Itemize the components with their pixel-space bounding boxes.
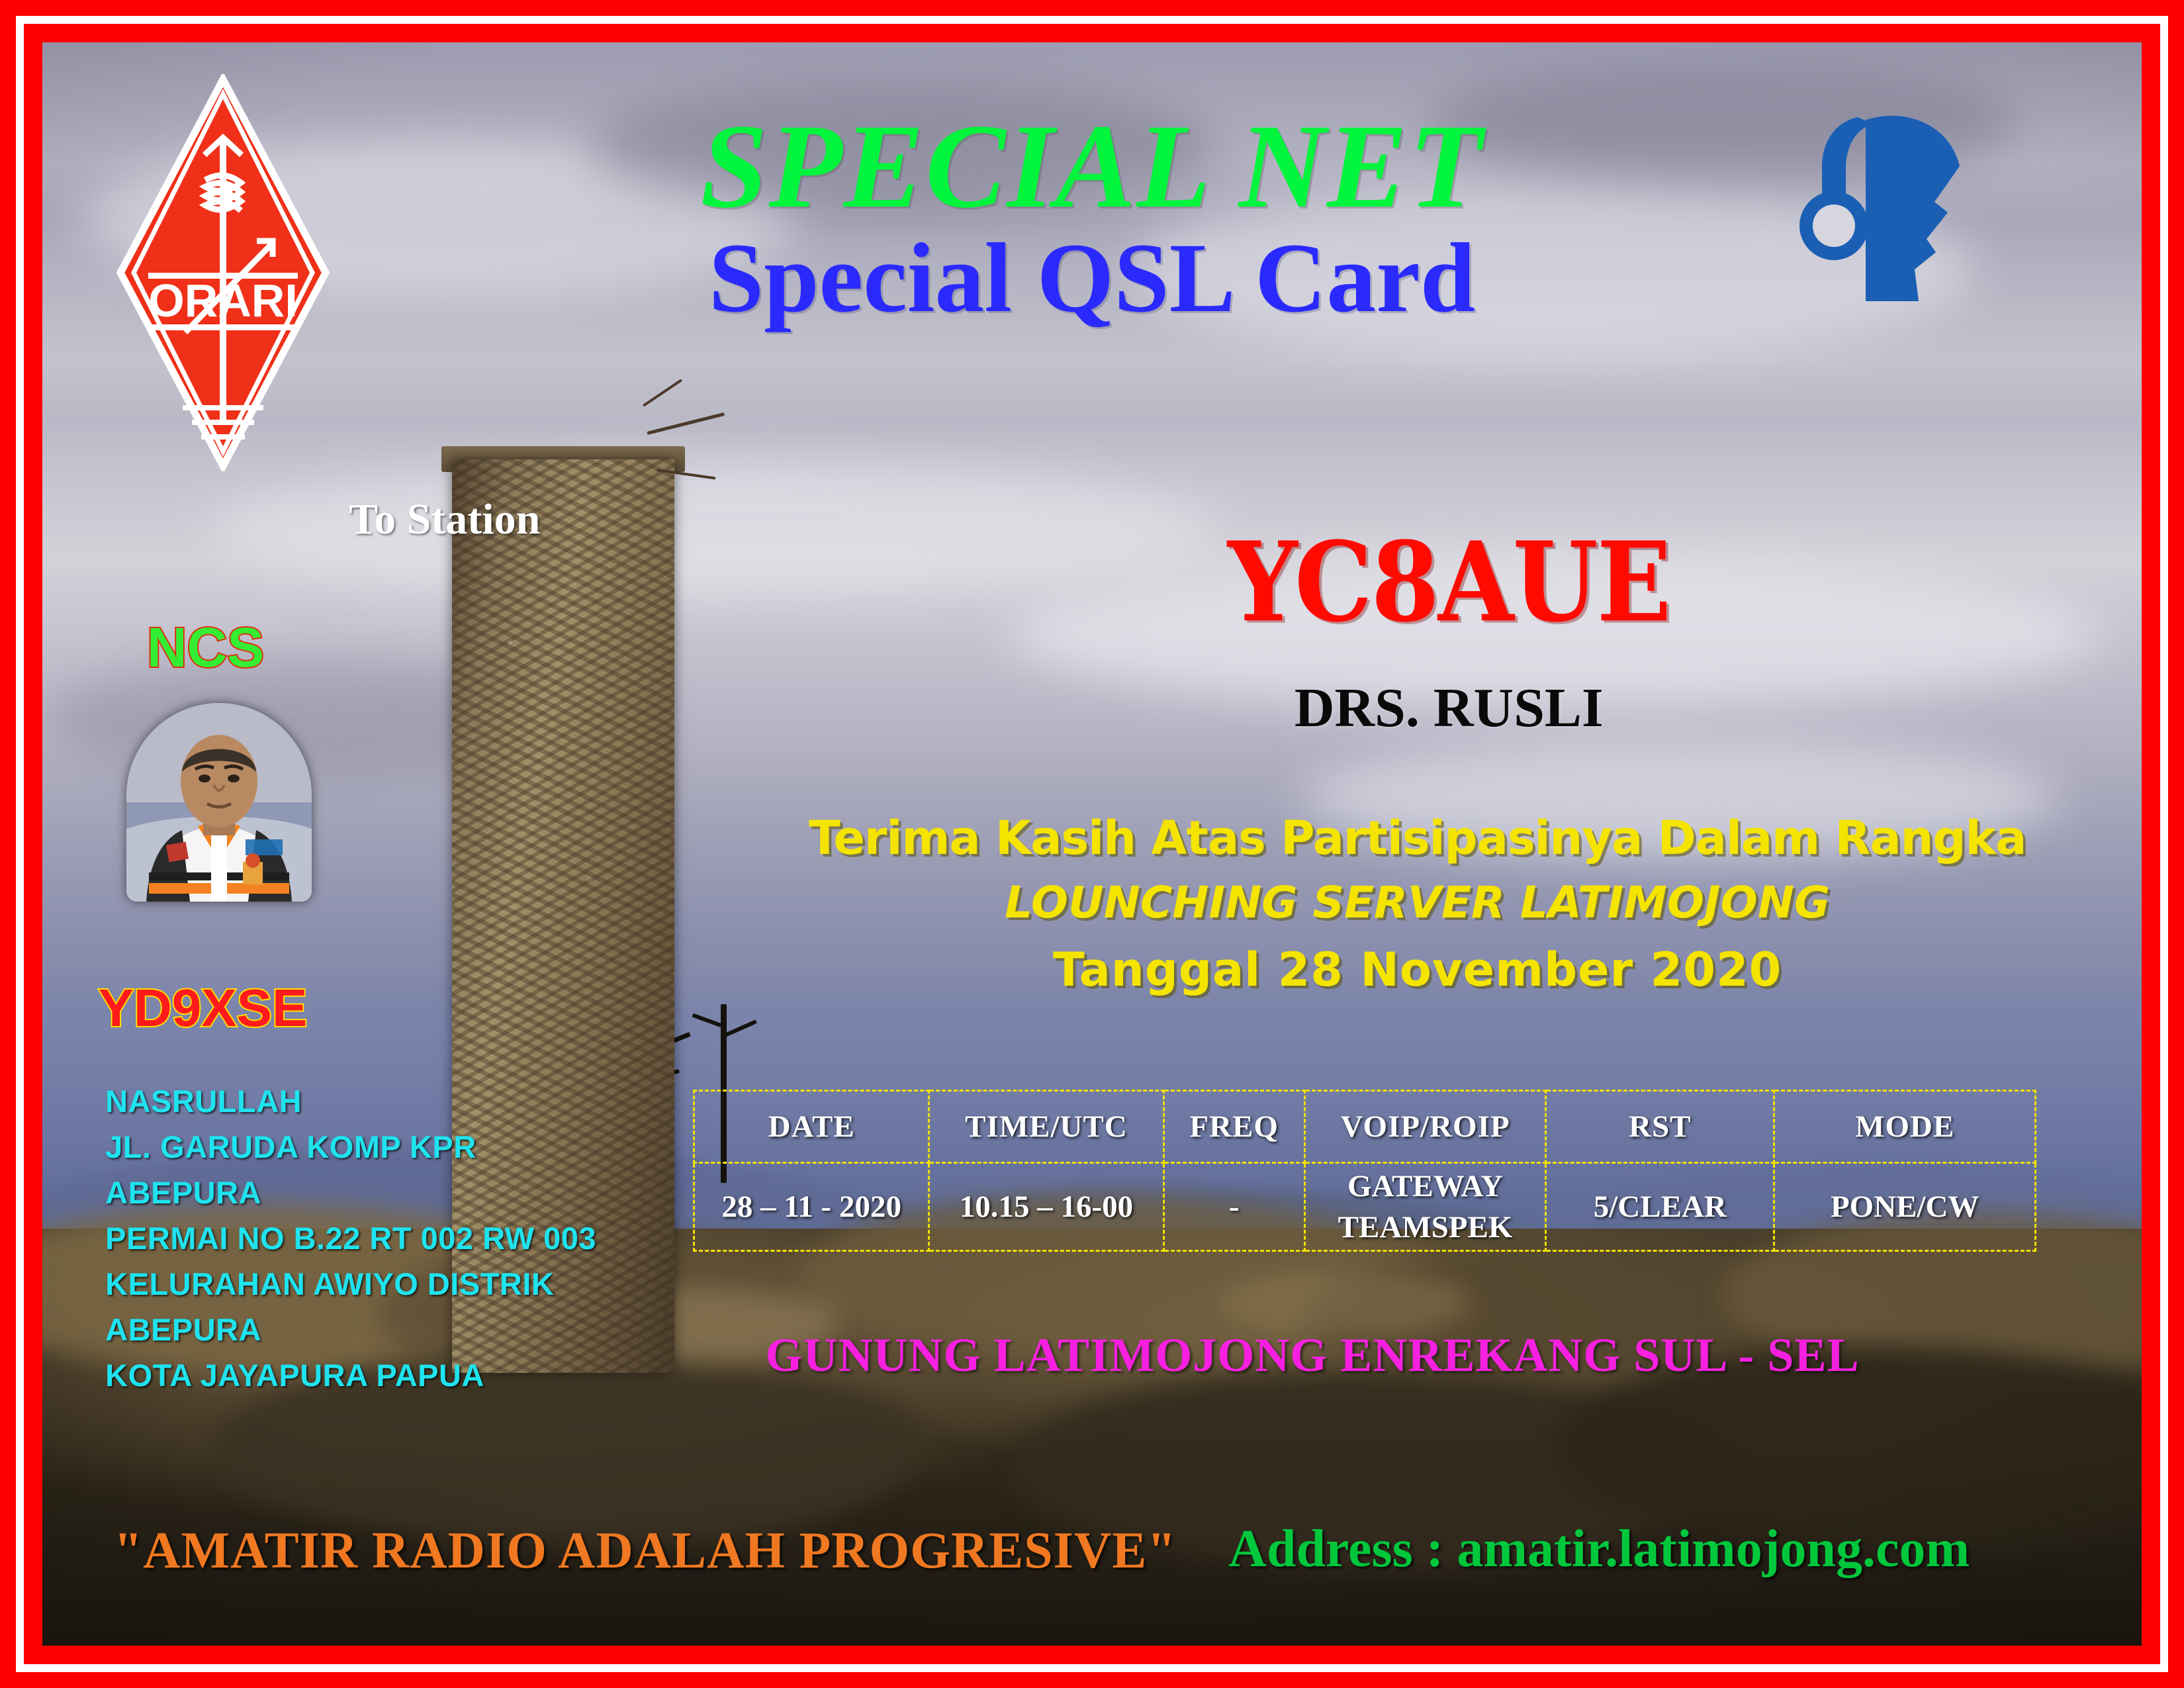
recipient-callsign: YC8AUE <box>882 527 2016 637</box>
recipient-operator-name: DRS. RUSLI <box>882 680 2016 736</box>
footer-website-address: Address : amatir.latimojong.com <box>1228 1519 1970 1579</box>
table-header-mode: MODE <box>1774 1090 2036 1162</box>
operator-photo <box>126 703 312 902</box>
cell-rst: 5/CLEAR <box>1546 1162 1774 1250</box>
cell-voip-roip: GATEWAY TEAMSPEK <box>1304 1162 1546 1250</box>
card-white-frame: ORARI SPECIAL NET Special QSL Card To St… <box>16 16 2168 1672</box>
card-red-frame: ORARI SPECIAL NET Special QSL Card To St… <box>24 24 2160 1664</box>
thanks-line-3-date: Tanggal 28 November 2020 <box>756 947 2078 993</box>
page-subtitle-qsl-card: Special QSL Card <box>42 228 2142 328</box>
to-station-label: To Station <box>349 494 540 545</box>
card-background-photo: ORARI SPECIAL NET Special QSL Card To St… <box>42 42 2142 1646</box>
cell-date: 28 – 11 - 2020 <box>694 1162 929 1250</box>
table-header-row: DATE TIME/UTC FREQ VOIP/ROIP RST MODE <box>694 1090 2036 1162</box>
qsl-card: ORARI SPECIAL NET Special QSL Card To St… <box>0 0 2184 1688</box>
cell-time: 10.15 – 16-00 <box>929 1162 1164 1250</box>
footer-slogan: "AMATIR RADIO ADALAH PROGRESIVE" <box>114 1521 1177 1580</box>
cell-voip-roip-line1: GATEWAY <box>1306 1166 1545 1207</box>
table-row: 28 – 11 - 2020 10.15 – 16-00 - GATEWAY T… <box>694 1162 2036 1250</box>
table-header-voip-roip: VOIP/ROIP <box>1304 1090 1546 1162</box>
ncs-label: NCS <box>110 620 302 675</box>
address-line: KELURAHAN AWIYO DISTRIK <box>105 1261 800 1307</box>
table-header-rst: RST <box>1546 1090 1774 1162</box>
table-header-date: DATE <box>694 1090 929 1162</box>
cell-mode: PONE/CW <box>1774 1162 2036 1250</box>
table-header-freq: FREQ <box>1163 1090 1304 1162</box>
table-header-time: TIME/UTC <box>929 1090 1164 1162</box>
cell-freq: - <box>1163 1162 1304 1250</box>
card-content: ORARI SPECIAL NET Special QSL Card To St… <box>42 42 2142 1646</box>
page-title-special-net: SPECIAL NET <box>42 107 2142 227</box>
qso-log-table: DATE TIME/UTC FREQ VOIP/ROIP RST MODE 28… <box>693 1090 2036 1252</box>
cell-voip-roip-line2: TEAMSPEK <box>1306 1207 1545 1248</box>
location-caption: GUNUNG LATIMOJONG ENREKANG SUL - SEL <box>651 1328 1974 1383</box>
ncs-callsign: YD9XSE <box>97 982 308 1035</box>
thanks-line-1: Terima Kasih Atas Partisipasinya Dalam R… <box>756 815 2078 861</box>
thanks-line-2-event: LOUNCHING SERVER LATIMOJONG <box>756 881 2078 925</box>
